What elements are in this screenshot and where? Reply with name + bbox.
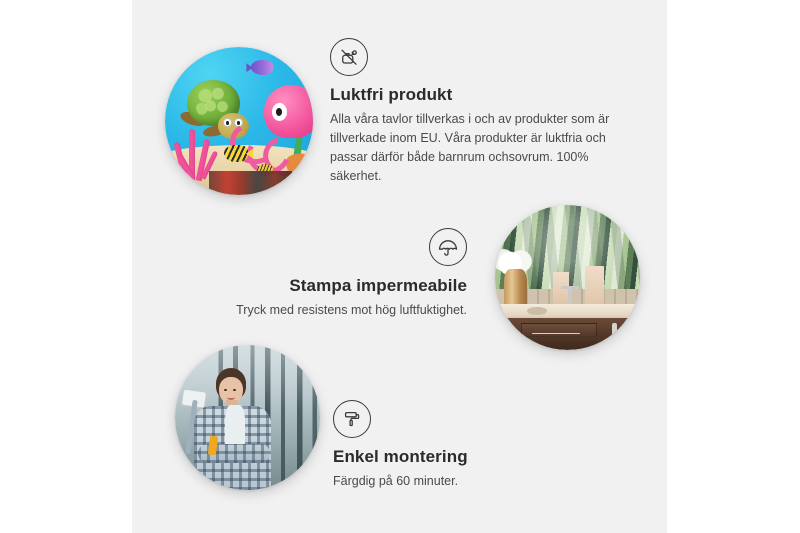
soap-dish [527, 307, 547, 316]
paint-roller-icon [333, 400, 371, 438]
content-panel: Luktfri produkt Alla våra tavlor tillver… [132, 0, 667, 533]
woman-figure [192, 368, 282, 490]
yellow-fish-icon [224, 145, 248, 163]
product-feature-banner: Luktfri produkt Alla våra tavlor tillver… [0, 0, 800, 533]
purple-fish-icon [251, 60, 273, 75]
underwater-kids-mural-photo [165, 47, 313, 195]
photo-clip [495, 205, 640, 350]
photo-clip [175, 345, 320, 490]
feature-title: Stampa impermeabile [215, 276, 467, 296]
vanity-cabinet [507, 318, 640, 350]
feature-waterproof: Stampa impermeabile Tryck med resistens … [215, 228, 467, 320]
feature-easy-mounting: Enkel montering Färgdig på 60 minuter. [333, 400, 573, 491]
feature-title: Luktfri produkt [330, 85, 622, 105]
feature-title: Enkel montering [333, 447, 573, 467]
no-fragrance-icon [330, 38, 368, 76]
photo-bottom-band [209, 171, 292, 195]
bathroom-leaf-wallpaper-photo [495, 205, 640, 350]
feature-description: Färgdig på 60 minuter. [333, 472, 573, 491]
octopus-icon [251, 85, 313, 165]
painter-woman-forest-photo [175, 345, 320, 490]
photo-clip [165, 47, 313, 195]
feature-description: Alla våra tavlor tillverkas i och av pro… [330, 110, 622, 186]
feature-description: Tryck med resistens mot hög luftfuktighe… [215, 301, 467, 320]
feature-odorless: Luktfri produkt Alla våra tavlor tillver… [330, 38, 622, 186]
umbrella-icon [429, 228, 467, 266]
